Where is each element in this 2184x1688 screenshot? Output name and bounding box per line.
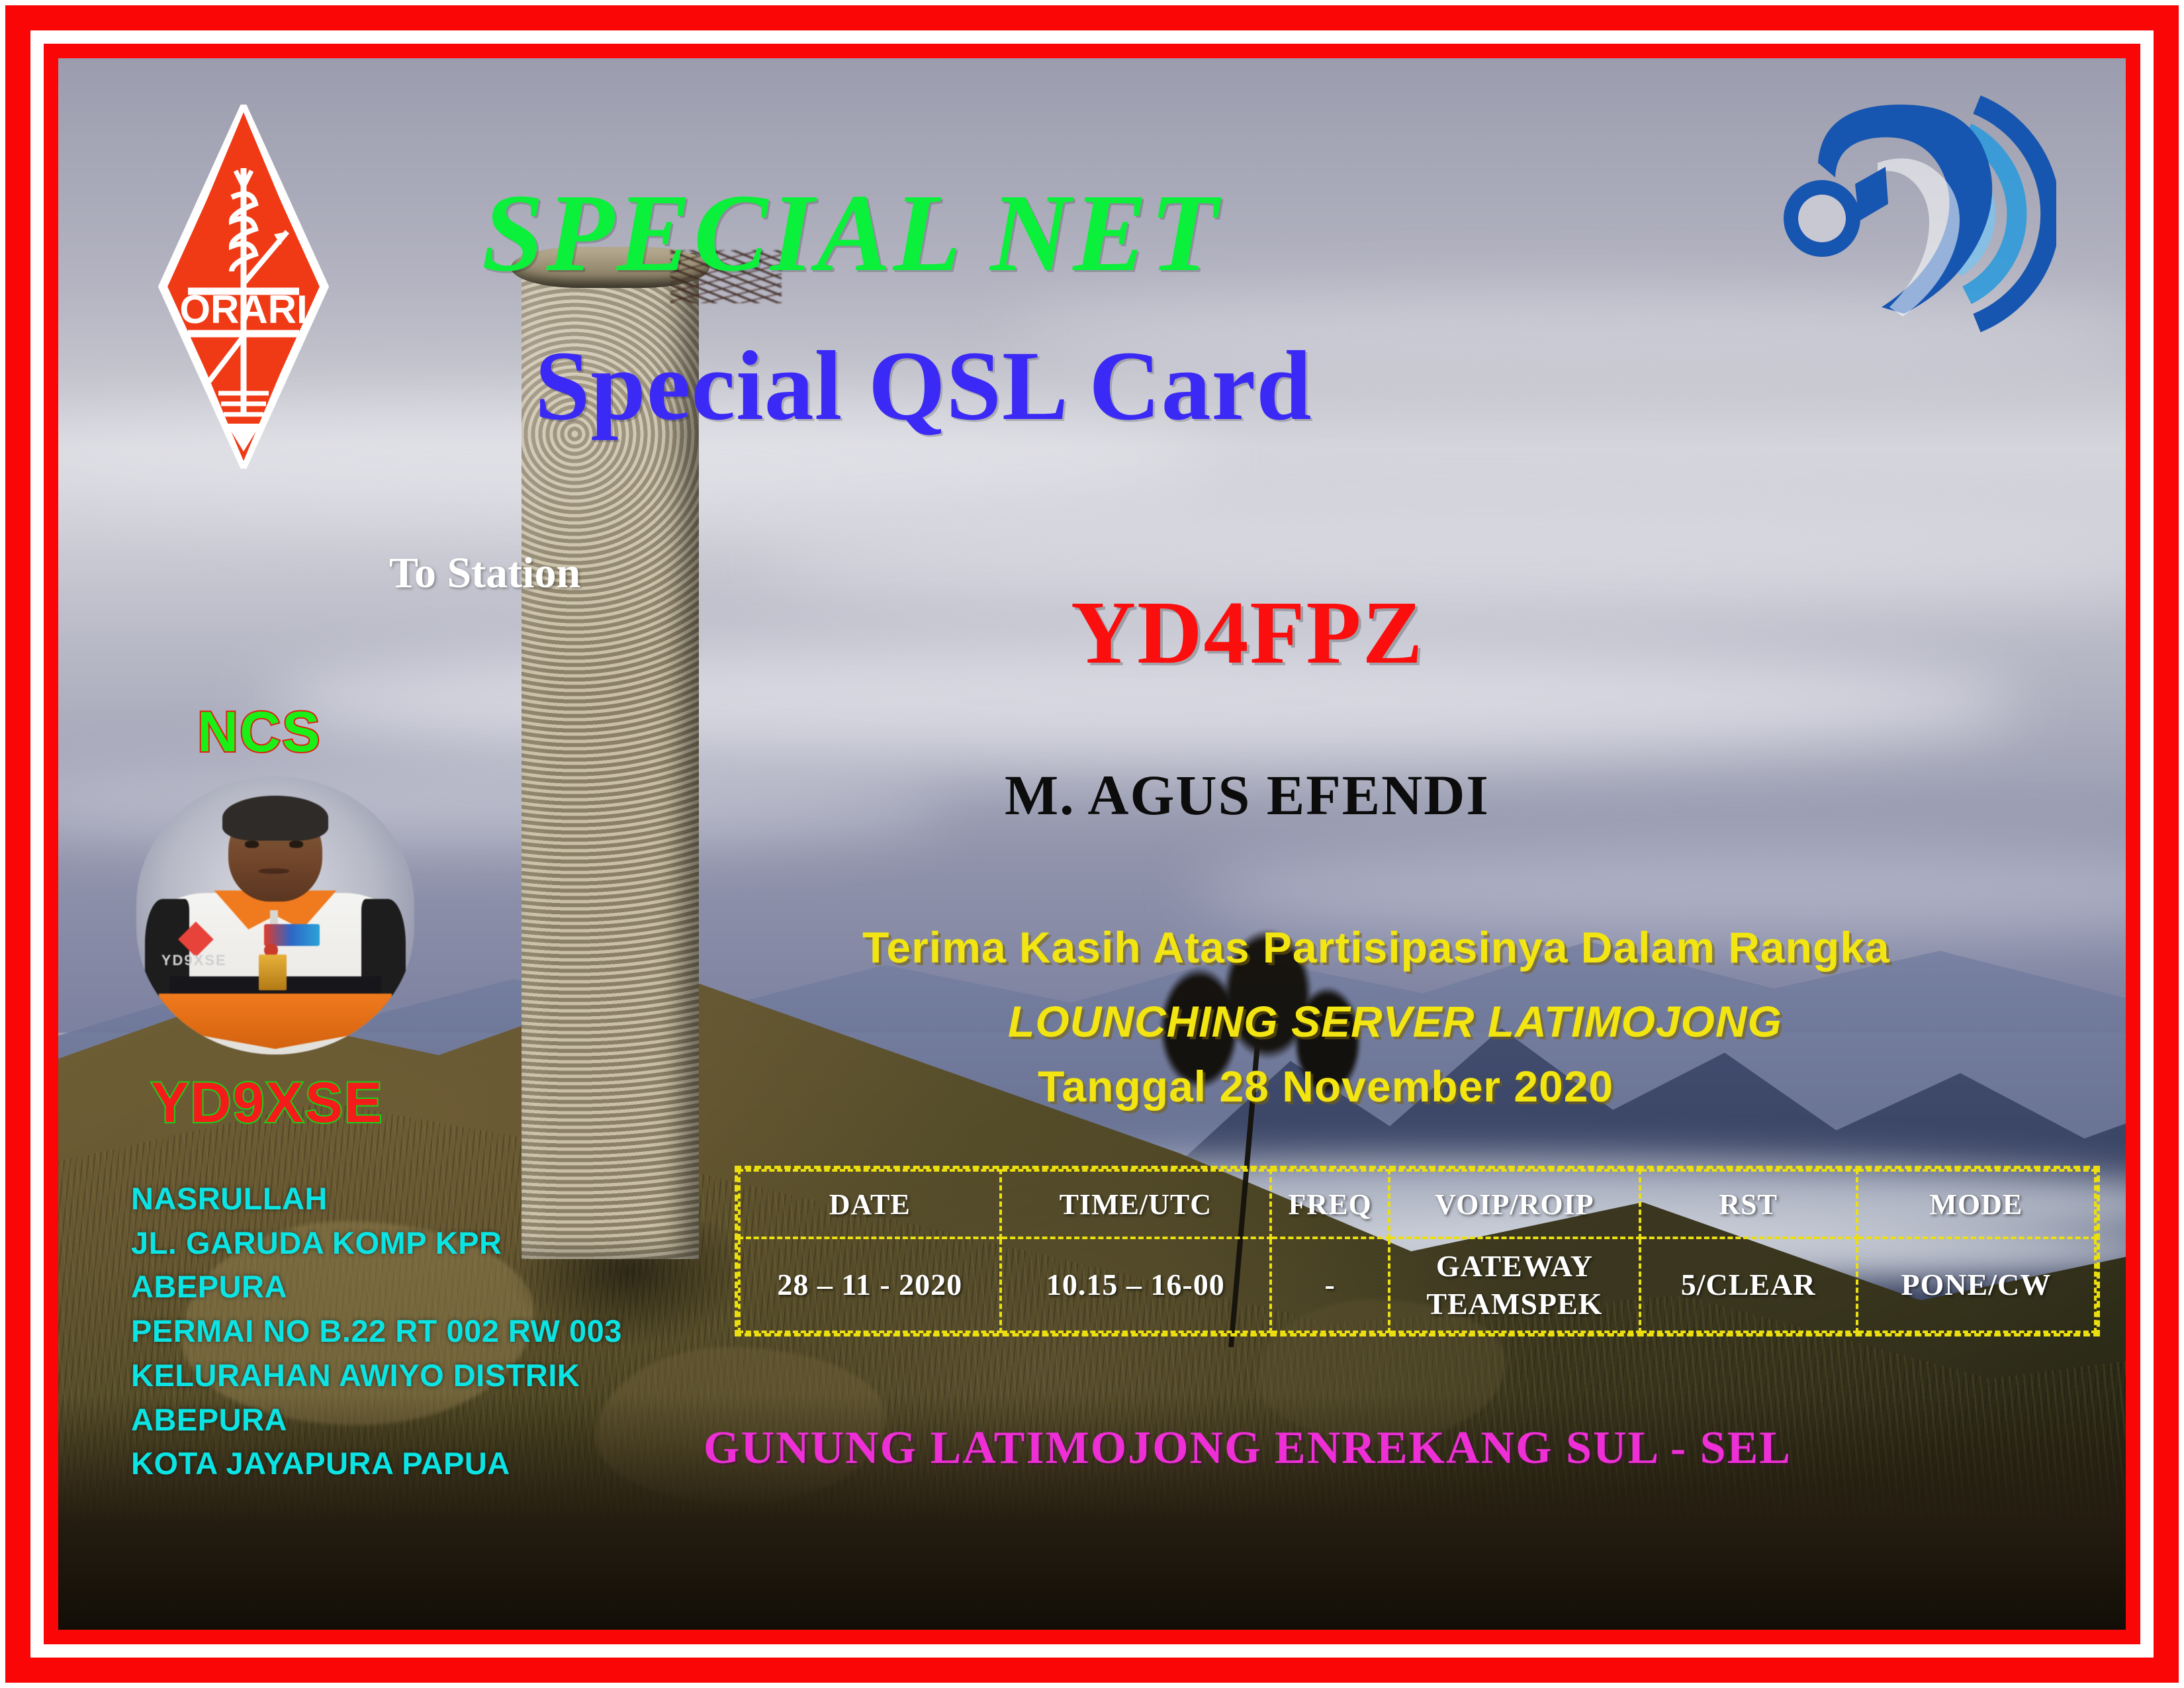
cell-time-utc: 10.15 – 16-00 — [1001, 1238, 1271, 1332]
address-line: JL. GARUDA KOMP KPR — [131, 1221, 622, 1266]
operator-eye-left — [245, 841, 259, 848]
column-header-rst: RST — [1640, 1170, 1857, 1238]
orari-diamond-logo: ORARI — [158, 105, 330, 469]
uniform-callsign-text: YD9XSE — [161, 952, 227, 969]
page-title: SPECIAL NET — [482, 177, 1220, 289]
ncs-address-block: NASRULLAH JL. GARUDA KOMP KPR ABEPURA PE… — [131, 1177, 622, 1486]
cell-freq: - — [1271, 1238, 1389, 1332]
event-title: LOUNCHING SERVER LATIMOJONG — [1008, 1000, 1782, 1043]
table-header-row: DATE TIME/UTC FREQ VOIP/ROIP RST MODE — [739, 1170, 2095, 1238]
address-line: ABEPURA — [131, 1398, 622, 1442]
orari-logo-text: ORARI — [179, 287, 307, 332]
column-header-freq: FREQ — [1271, 1170, 1389, 1238]
location-caption: GUNUNG LATIMOJONG ENREKANG SUL - SEL — [704, 1425, 1792, 1472]
worked-station-callsign: YD4FPZ — [1071, 588, 1424, 678]
id-badge-card — [259, 955, 287, 991]
cell-rst: 5/CLEAR — [1640, 1238, 1857, 1332]
operator-mouth — [259, 868, 289, 874]
thanks-message: Terima Kasih Atas Partisipasinya Dalam R… — [862, 925, 1890, 969]
cell-date: 28 – 11 - 2020 — [739, 1238, 1001, 1332]
column-header-voip-roip: VOIP/ROIP — [1389, 1170, 1639, 1238]
inner-red-frame: ORARI — [44, 44, 2140, 1644]
column-header-time-utc: TIME/UTC — [1001, 1170, 1271, 1238]
column-header-mode: MODE — [1857, 1170, 2095, 1238]
qsl-card: ORARI — [0, 0, 2184, 1688]
card-content: ORARI — [58, 58, 2126, 1630]
worked-station-name: M. AGUS EFENDI — [1005, 767, 1490, 823]
cell-voip-roip: GATEWAY TEAMSPEK — [1389, 1238, 1639, 1332]
table-row: 28 – 11 - 2020 10.15 – 16-00 - GATEWAY T… — [739, 1238, 2095, 1332]
uniform-logo-patch — [264, 924, 320, 947]
to-station-label: To Station — [389, 551, 580, 595]
ncs-callsign: YD9XSE — [151, 1074, 383, 1131]
operator-eye-right — [289, 841, 303, 848]
web-address: Address : amatir.latimojong.com — [1319, 1640, 2025, 1644]
address-line: ABEPURA — [131, 1265, 622, 1309]
page-subtitle: Special QSL Card — [535, 336, 1312, 436]
cell-mode: PONE/CW — [1857, 1238, 2095, 1332]
ncs-operator-photo: YD9XSE — [136, 776, 414, 1055]
column-header-date: DATE — [739, 1170, 1001, 1238]
address-line: NASRULLAH — [131, 1177, 622, 1221]
address-line: KELURAHAN AWIYO DISTRIK — [131, 1354, 622, 1398]
event-date: Tanggal 28 November 2020 — [1038, 1064, 1614, 1108]
qso-log-table: DATE TIME/UTC FREQ VOIP/ROIP RST MODE 28… — [735, 1166, 2100, 1336]
address-line: PERMAI NO B.22 RT 002 RW 003 — [131, 1309, 622, 1354]
motto-text: "AMATIR RADIO ADALAH PROGRESIVE" — [138, 1640, 1147, 1644]
ncs-label: NCS — [197, 704, 322, 761]
headset-profile-logo — [1778, 85, 2056, 343]
operator-hair — [222, 796, 328, 840]
address-line: KOTA JAYAPURA PAPUA — [131, 1442, 622, 1486]
